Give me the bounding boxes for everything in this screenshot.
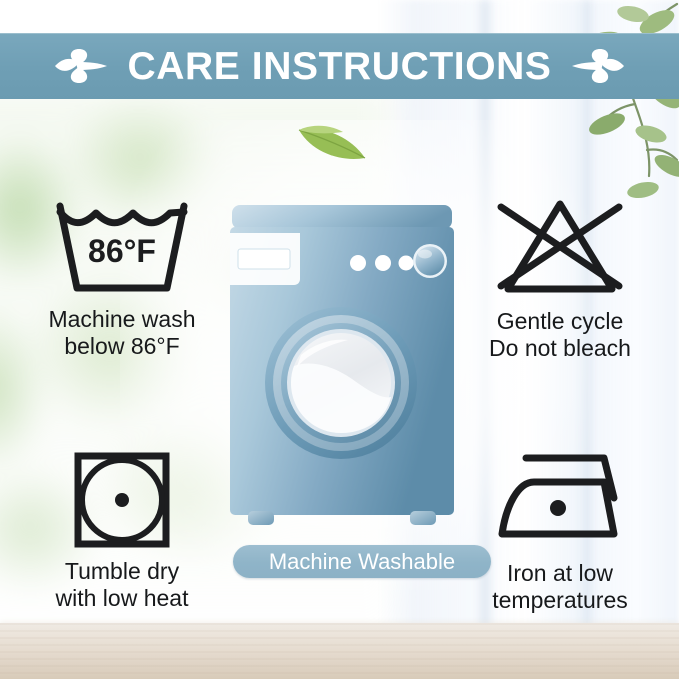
crossed-triangle-icon (485, 196, 635, 300)
care-symbol-do-not-bleach: Gentle cycle Do not bleach (446, 196, 674, 362)
fleur-de-lis-left-icon (53, 45, 109, 87)
control-knob[interactable] (416, 247, 445, 276)
washer-foot (248, 511, 274, 525)
care-symbol-label: Tumble dry with low heat (56, 558, 189, 612)
tumble-dry-icon (70, 448, 174, 552)
washing-machine-illustration (228, 203, 456, 533)
heat-level-dot (550, 500, 566, 516)
floating-leaf-icon (295, 118, 371, 166)
machine-washable-label: Machine Washable (269, 551, 455, 573)
knob-highlight (418, 250, 432, 259)
wash-tub-symbol: 86°F (49, 196, 195, 300)
page-title: CARE INSTRUCTIONS (127, 47, 551, 86)
iron-icon (490, 448, 630, 552)
heat-level-dot (115, 493, 129, 507)
wash-tub-icon: 86°F (49, 196, 195, 300)
indicator-light (399, 256, 414, 271)
care-symbol-machine-wash: 86°F Machine wash below 86°F (8, 196, 236, 360)
care-instructions-poster: CARE INSTRUCTIONS 86°F Machine wash belo… (0, 0, 679, 679)
iron-symbol (490, 448, 630, 552)
machine-washable-badge: Machine Washable (233, 545, 491, 578)
wash-temperature-value: 86°F (88, 233, 156, 269)
fleur-de-lis-right-icon (570, 45, 626, 87)
washer-top (232, 205, 452, 229)
care-symbol-label: Gentle cycle Do not bleach (489, 308, 631, 362)
drawer-handle (238, 249, 290, 269)
care-symbol-label: Iron at low temperatures (492, 560, 628, 614)
header-banner: CARE INSTRUCTIONS (0, 33, 679, 99)
indicator-light (350, 255, 366, 271)
wooden-table-surface (0, 623, 679, 679)
washer-foot (410, 511, 436, 525)
table-edge-highlight (0, 619, 679, 629)
care-symbol-label: Machine wash below 86°F (48, 306, 195, 360)
care-symbol-tumble-dry: Tumble dry with low heat (8, 448, 236, 612)
tumble-dry-symbol (70, 448, 174, 552)
crossed-triangle-symbol (485, 196, 635, 300)
care-symbol-iron: Iron at low temperatures (446, 448, 674, 614)
indicator-light (375, 255, 391, 271)
